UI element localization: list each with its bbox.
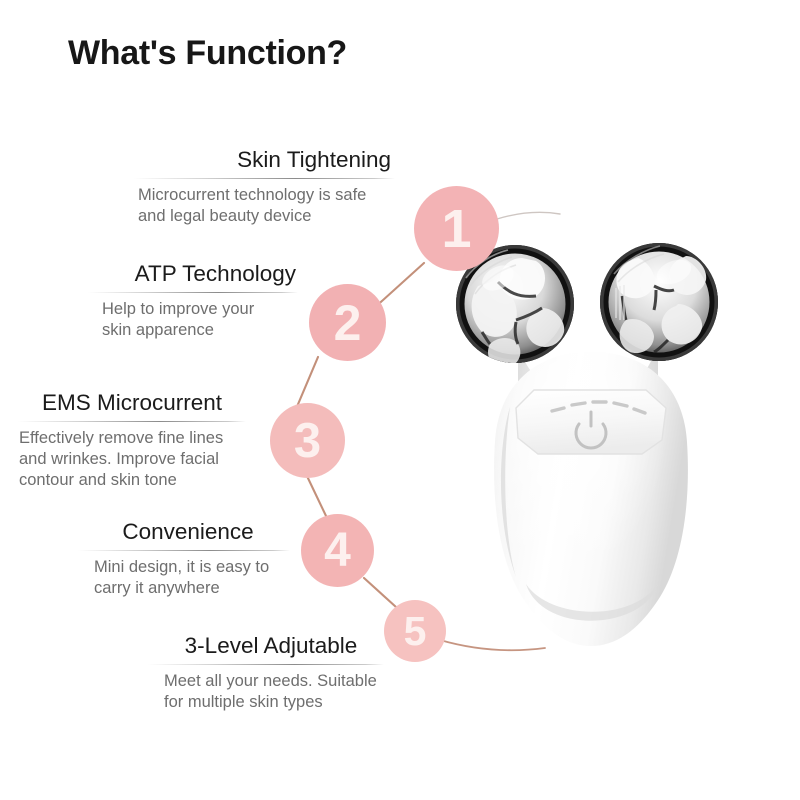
feature-divider-2 [88,292,298,293]
step-number-badge-4: 4 [301,514,374,587]
feature-divider-5 [148,664,384,665]
step-number-badge-3: 3 [270,403,345,478]
feature-description-1: Microcurrent technology is safe and lega… [133,185,395,227]
feature-item-2: ATP Technology Help to improve your skin… [88,262,298,341]
page-title: What's Function? [68,34,347,73]
feature-divider-1 [133,178,395,179]
feature-description-5: Meet all your needs. Suitable for multip… [148,671,384,713]
feature-description-2: Help to improve your skin apparence [88,299,298,341]
feature-item-4: Convenience Mini design, it is easy to c… [78,520,290,599]
step-number-badge-5: 5 [384,600,446,662]
feature-item-1: Skin Tightening Microcurrent technology … [133,148,395,227]
feature-heading-5: 3-Level Adjutable [148,634,384,659]
feature-heading-3: EMS Microcurrent [18,391,246,416]
feature-item-5: 3-Level Adjutable Meet all your needs. S… [148,634,384,713]
device-illustration [446,232,736,652]
feature-description-3: Effectively remove fine lines and wrinke… [18,428,246,491]
feature-description-4: Mini design, it is easy to carry it anyw… [78,557,290,599]
step-number-badge-1: 1 [414,186,499,271]
feature-divider-4 [78,550,290,551]
feature-heading-4: Convenience [78,520,290,545]
roller-ball-right [600,243,718,361]
step-number-badge-2: 2 [309,284,386,361]
feature-divider-3 [18,421,246,422]
feature-item-3: EMS Microcurrent Effectively remove fine… [18,391,246,491]
feature-heading-1: Skin Tightening [133,148,395,173]
feature-heading-2: ATP Technology [88,262,298,287]
infographic-page: What's Function? Skin Tightening Microcu… [0,0,800,800]
